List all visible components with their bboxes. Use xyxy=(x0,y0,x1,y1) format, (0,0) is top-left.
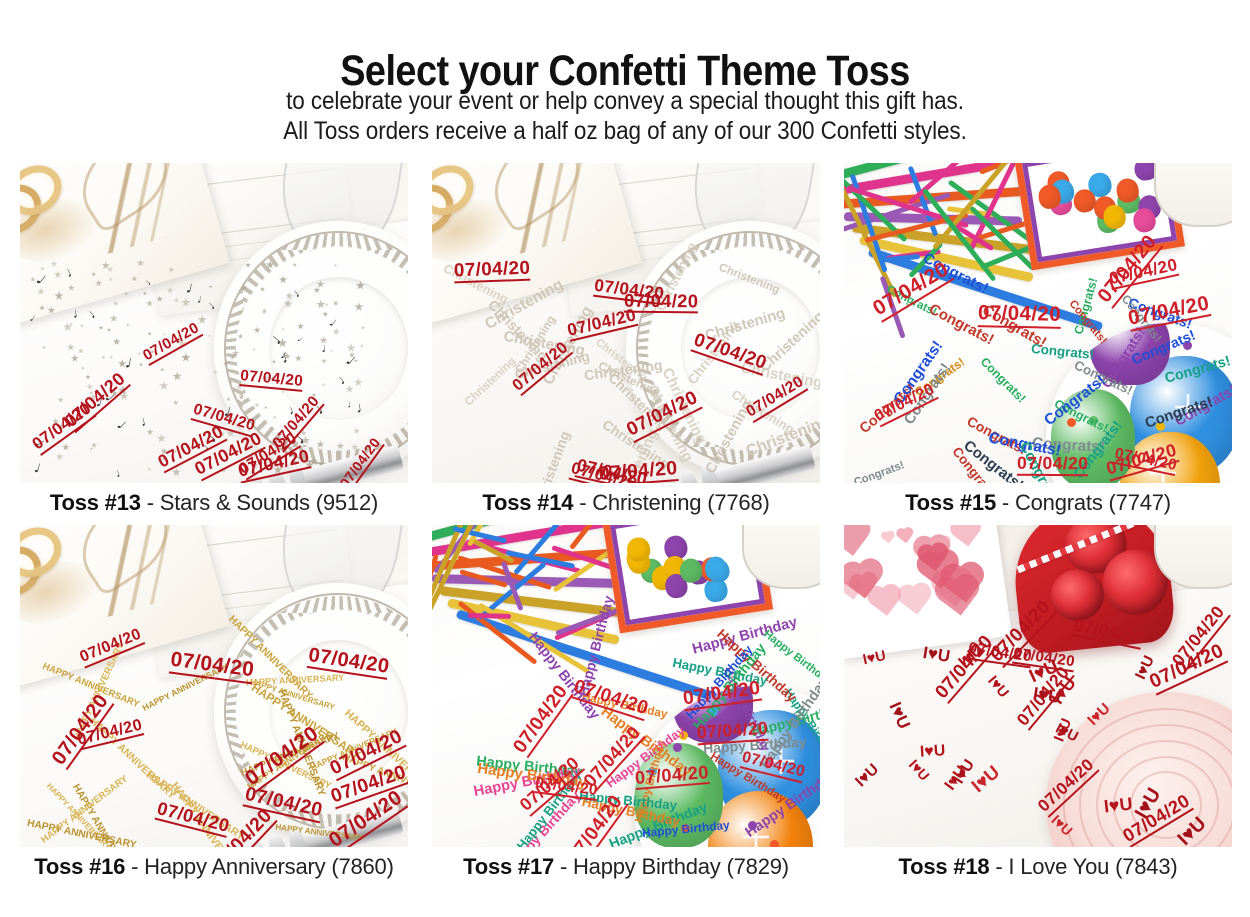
confetti-star xyxy=(213,370,218,375)
product-name-sku: - Congrats (7747) xyxy=(996,490,1171,515)
confetti-date: 07/04/20 xyxy=(870,259,954,322)
confetti-word-anniversary: HAPPY ANNIVERSARY xyxy=(275,824,364,843)
confetti-star xyxy=(290,459,298,467)
confetti-word-christening: Christening xyxy=(704,307,788,345)
confetti-word-birthday: Happy Birthday xyxy=(477,762,588,791)
confetti-star xyxy=(90,447,93,450)
confetti-word-birthday: Happy Birthday xyxy=(743,768,820,840)
confetti-star xyxy=(58,397,64,403)
product-cell-toss-16[interactable]: HAPPY ANNIVERSARYHAPPY ANNIVERSARYHAPPY … xyxy=(20,525,408,889)
confetti-word-anniversary: HAPPY ANNIVERSARY xyxy=(44,782,111,847)
confetti-word-congrats: Congrats! xyxy=(858,381,919,436)
product-photo-happy-anniversary[interactable]: HAPPY ANNIVERSARYHAPPY ANNIVERSARYHAPPY … xyxy=(20,525,408,847)
confetti-date: 07/04/20 xyxy=(237,431,302,481)
confetti-word-birthday: Happy Birthday xyxy=(782,687,820,765)
confetti-word-christening: Christening xyxy=(717,261,781,295)
confetti-music-note: ♩ xyxy=(295,334,310,349)
confetti-star xyxy=(354,302,364,312)
confetti-word-birthday: Happy Birthday xyxy=(506,789,584,847)
confetti-word-christening: Christening xyxy=(597,359,662,398)
confetti-music-note: ♩ xyxy=(267,323,293,349)
confetti-date: 07/04/20 xyxy=(154,799,231,838)
confetti-star xyxy=(160,367,164,371)
confetti-word-birthday: Happy Birthday xyxy=(525,630,601,722)
confetti-word-congrats: Congrats! xyxy=(980,302,1049,350)
confetti-word-congrats: Congrats! xyxy=(1052,397,1110,434)
confetti-star xyxy=(159,381,169,391)
subtitle-line-1: to celebrate your event or help convey a… xyxy=(63,86,1188,116)
product-cell-toss-14[interactable]: ChristeningChristeningChristeningChriste… xyxy=(432,163,820,525)
confetti-word-i-love-you: I♥U xyxy=(1048,813,1074,839)
confetti-star xyxy=(160,448,168,456)
confetti-star xyxy=(325,303,329,307)
confetti-music-note: ♩ xyxy=(311,395,335,419)
confetti-word-anniversary: HAPPY ANNIVERSARY xyxy=(144,770,245,842)
confetti-word-birthday: Happy Birthday xyxy=(607,800,709,847)
confetti-music-note: ♩ xyxy=(286,400,303,418)
confetti-word-i-love-you: I♥U xyxy=(1174,814,1209,847)
confetti-star xyxy=(62,443,70,451)
product-name-sku: - Happy Anniversary (7860) xyxy=(125,854,394,879)
confetti-word-anniversary: HAPPY ANNIVERSARY xyxy=(341,753,408,801)
confetti-word-congrats: Congrats! xyxy=(1126,296,1193,332)
confetti-word-christening: Christening xyxy=(514,350,592,382)
confetti-date: 07/04/20 xyxy=(510,339,574,396)
confetti-star xyxy=(146,429,153,436)
confetti-date: 07/04/20 xyxy=(624,292,699,314)
confetti-music-note: ♩ xyxy=(31,268,60,297)
confetti-star xyxy=(157,296,163,302)
confetti-star xyxy=(351,443,359,451)
confetti-star xyxy=(47,306,55,314)
confetti-star xyxy=(208,334,211,337)
confetti-word-congrats: Congrats! xyxy=(852,460,905,483)
confetti-word-congrats: Congrats! xyxy=(902,361,954,428)
product-cell-toss-13[interactable]: ♩♩♩♩♩♩♩♩♩♩♩♩♩♩♩♩♩♩♩♩♩♩♩♩♩♩♩♩♩♩♩♩♩♩07/04/… xyxy=(20,163,408,525)
confetti-word-congrats: Congrats! xyxy=(1100,325,1149,391)
confetti-word-christening: Christening xyxy=(463,355,518,408)
confetti-word-congrats: Congrats! xyxy=(1067,299,1109,347)
confetti-word-christening: Christening xyxy=(729,388,796,436)
confetti-star xyxy=(69,322,73,326)
confetti-word-congrats: Congrats! xyxy=(1071,419,1125,482)
confetti-word-birthday: Happy Birthday xyxy=(761,629,820,688)
confetti-star xyxy=(147,467,151,471)
confetti-star xyxy=(356,281,366,291)
confetti-star xyxy=(254,402,259,407)
confetti-word-birthday: Happy Birthday xyxy=(750,700,820,739)
confetti-star xyxy=(311,392,316,397)
confetti-date: 07/04/20 xyxy=(326,787,408,847)
confetti-date: 07/04/20 xyxy=(988,598,1057,668)
confetti-music-note: ♩ xyxy=(326,314,347,335)
confetti-music-note: ♩ xyxy=(138,410,156,429)
confetti-star xyxy=(174,297,180,303)
confetti-star xyxy=(107,328,111,332)
confetti-word-congrats: Congrats! xyxy=(913,356,967,399)
product-photo-stars-and-sounds[interactable]: ♩♩♩♩♩♩♩♩♩♩♩♩♩♩♩♩♩♩♩♩♩♩♩♩♩♩♩♩♩♩♩♩♩♩07/04/… xyxy=(20,163,408,483)
product-grid: ♩♩♩♩♩♩♩♩♩♩♩♩♩♩♩♩♩♩♩♩♩♩♩♩♩♩♩♩♩♩♩♩♩♩07/04/… xyxy=(20,163,1232,889)
confetti-theme-toss-page: Select your Confetti Theme Toss to celeb… xyxy=(0,0,1250,917)
confetti-word-christening: Christening xyxy=(485,298,550,364)
confetti-star xyxy=(131,276,137,282)
confetti-date: 07/04/20 xyxy=(1112,446,1177,476)
confetti-word-congrats: Congrats! xyxy=(1042,372,1109,428)
confetti-word-i-love-you: I♥U xyxy=(853,762,882,791)
confetti-music-note: ♩ xyxy=(288,421,317,450)
confetti-date: 07/04/20 xyxy=(1012,646,1076,673)
confetti-star xyxy=(86,383,93,390)
confetti-word-christening: Christening xyxy=(541,304,596,388)
confetti-word-congrats: Congrats! xyxy=(926,301,996,347)
confetti-date: 07/04/20 xyxy=(1104,442,1179,482)
confetti-date: 07/04/20 xyxy=(327,727,407,782)
confetti-word-christening: Christening xyxy=(593,337,649,384)
confetti-word-anniversary: HAPPY ANNIVERSARY xyxy=(70,783,134,847)
confetti-word-i-love-you: I♥U xyxy=(920,743,946,760)
confetti-star xyxy=(50,260,57,267)
confetti-star xyxy=(197,315,207,325)
confetti-word-christening: Christening xyxy=(659,366,709,447)
confetti-layer-happy-anniversary: HAPPY ANNIVERSARYHAPPY ANNIVERSARYHAPPY … xyxy=(20,525,408,847)
confetti-date: 07/04/20 xyxy=(580,723,646,792)
confetti-word-i-love-you: I♥U xyxy=(886,699,913,731)
confetti-date: 07/04/20 xyxy=(454,259,531,283)
confetti-date: 07/04/20 xyxy=(242,724,324,793)
confetti-star xyxy=(101,355,105,359)
confetti-star xyxy=(334,264,337,267)
confetti-word-birthday: Happy Birthday xyxy=(473,765,582,800)
confetti-word-anniversary: HAPPY ANNIVERSARY xyxy=(246,674,345,688)
confetti-star xyxy=(173,400,179,406)
confetti-star xyxy=(270,376,275,381)
confetti-star xyxy=(181,298,191,308)
product-photo-happy-birthday[interactable]: Happy BirthdayHappy BirthdayHappy Birthd… xyxy=(432,525,820,847)
product-cell-toss-18[interactable]: I♥UI♥UI♥UI♥UI♥UI♥UI♥UI♥UI♥UI♥UI♥UI♥UI♥UI… xyxy=(844,525,1232,889)
confetti-star xyxy=(336,442,344,450)
confetti-word-congrats: Congrats! xyxy=(1072,276,1099,335)
product-photo-congrats[interactable]: Congrats!Congrats!Congrats!Congrats!Cong… xyxy=(844,163,1232,483)
confetti-word-anniversary: HAPPY ANNIVERSARY xyxy=(249,682,362,761)
confetti-word-i-love-you: I♥U xyxy=(1053,722,1080,746)
confetti-star xyxy=(39,305,45,311)
confetti-star xyxy=(136,259,144,267)
confetti-date: 07/04/20 xyxy=(566,792,630,847)
confetti-star xyxy=(161,457,165,461)
confetti-word-congrats: Congrats! xyxy=(1031,342,1095,362)
confetti-word-anniversary: HAPPY ANNIVERSARY xyxy=(87,716,177,801)
confetti-star xyxy=(254,327,261,334)
confetti-word-birthday: Happy Birthday xyxy=(635,739,669,824)
confetti-date: 07/04/20 xyxy=(967,641,1033,668)
confetti-star xyxy=(126,323,130,327)
confetti-star xyxy=(113,301,119,307)
confetti-word-congrats: Congrats! xyxy=(921,250,991,296)
confetti-star xyxy=(318,461,324,467)
confetti-star xyxy=(238,394,245,401)
confetti-star xyxy=(236,383,243,390)
confetti-star xyxy=(262,375,269,382)
confetti-star xyxy=(361,325,366,330)
confetti-word-christening: Christening xyxy=(739,361,820,391)
confetti-word-i-love-you: I♥U xyxy=(942,763,970,793)
confetti-word-congrats: Congrats! xyxy=(950,445,1000,483)
confetti-date: 07/04/20 xyxy=(517,754,585,817)
product-id: Toss #14 xyxy=(482,490,573,515)
confetti-star xyxy=(110,314,118,322)
confetti-word-i-love-you: I♥U xyxy=(955,641,986,671)
confetti-star xyxy=(107,266,113,272)
confetti-word-congrats: Congrats! xyxy=(965,414,1029,457)
confetti-word-i-love-you: I♥U xyxy=(1133,785,1166,822)
confetti-star xyxy=(181,353,191,363)
confetti-date: 07/04/20 xyxy=(740,750,807,784)
confetti-star xyxy=(346,385,354,393)
confetti-word-congrats: Congrats! xyxy=(1144,395,1215,432)
confetti-date: 07/04/20 xyxy=(978,303,1061,328)
confetti-star xyxy=(146,299,154,307)
confetti-date: 07/04/20 xyxy=(208,806,278,847)
confetti-star xyxy=(281,390,285,394)
confetti-word-i-love-you: I♥U xyxy=(1085,700,1113,728)
confetti-word-christening: Christening xyxy=(685,319,742,387)
confetti-layer-congrats: Congrats!Congrats!Congrats!Congrats!Cong… xyxy=(844,163,1232,483)
confetti-word-christening: Christening xyxy=(703,398,755,476)
confetti-star xyxy=(71,354,79,362)
confetti-word-christening: Christening xyxy=(503,330,587,359)
confetti-star xyxy=(91,442,97,448)
confetti-star xyxy=(272,359,276,363)
confetti-date: 07/04/20 xyxy=(624,389,702,443)
product-id: Toss #16 xyxy=(34,854,125,879)
confetti-star xyxy=(89,391,93,395)
confetti-word-birthday: Happy Birthday xyxy=(691,642,769,734)
confetti-word-christening: Christening xyxy=(532,429,572,483)
confetti-date: 07/04/20 xyxy=(1127,293,1212,332)
confetti-star xyxy=(322,311,328,317)
confetti-word-birthday: Happy Birthday xyxy=(691,615,799,657)
confetti-date: 07/04/20 xyxy=(328,762,408,809)
confetti-star xyxy=(68,284,75,291)
confetti-star xyxy=(252,348,256,352)
confetti-word-christening: Christening xyxy=(758,310,820,376)
product-photo-christening[interactable]: ChristeningChristeningChristeningChriste… xyxy=(432,163,820,483)
confetti-star xyxy=(85,374,91,380)
product-caption: Toss #16 - Happy Anniversary (7860) xyxy=(20,847,408,889)
confetti-word-birthday: Happy Birthday xyxy=(714,627,798,705)
subtitle-line-2: All Toss orders receive a half oz bag of… xyxy=(63,116,1188,146)
confetti-word-congrats: Congrats! xyxy=(891,338,946,407)
confetti-word-birthday: Happy Birthday xyxy=(722,665,772,753)
confetti-word-anniversary: HAPPY ANNIVERSARY xyxy=(41,661,141,709)
confetti-star xyxy=(316,300,326,310)
page-subtitle: to celebrate your event or help convey a… xyxy=(0,86,1250,146)
confetti-star xyxy=(272,415,277,420)
product-caption: Toss #15 - Congrats (7747) xyxy=(844,483,1232,525)
confetti-date: 07/04/20 xyxy=(337,435,385,483)
confetti-star xyxy=(157,433,167,443)
confetti-star xyxy=(78,348,84,354)
confetti-star xyxy=(143,291,148,296)
confetti-star xyxy=(230,355,235,360)
confetti-star xyxy=(52,418,59,425)
confetti-word-congrats: Congrats! xyxy=(1129,328,1197,367)
confetti-date: 07/04/20 xyxy=(77,627,144,669)
product-caption: Toss #14 - Christening (7768) xyxy=(432,483,820,525)
confetti-star xyxy=(354,378,363,387)
confetti-word-birthday: Happy Birthday xyxy=(476,755,583,781)
confetti-word-congrats: Congrats! xyxy=(1072,358,1134,397)
confetti-word-christening: Christening xyxy=(744,414,820,460)
product-id: Toss #15 xyxy=(905,490,996,515)
confetti-star xyxy=(67,343,75,351)
confetti-word-anniversary: HAPPY ANNIVERSARY xyxy=(342,708,408,797)
confetti-star xyxy=(163,333,166,336)
confetti-star xyxy=(147,331,152,336)
confetti-word-i-love-you: I♥U xyxy=(985,673,1011,700)
confetti-date: 07/04/20 xyxy=(1013,663,1074,731)
product-cell-toss-17[interactable]: Happy BirthdayHappy BirthdayHappy Birthd… xyxy=(432,525,820,889)
confetti-date: 07/04/20 xyxy=(1017,455,1088,476)
confetti-word-christening: Christening xyxy=(654,240,700,313)
confetti-star xyxy=(232,350,240,358)
product-caption: Toss #18 - I Love You (7843) xyxy=(844,847,1232,889)
confetti-word-congrats: Congrats! xyxy=(978,355,1028,405)
confetti-star xyxy=(266,260,275,269)
confetti-star xyxy=(360,344,364,348)
confetti-star xyxy=(150,350,154,354)
product-id: Toss #13 xyxy=(50,490,141,515)
confetti-star xyxy=(321,383,325,387)
confetti-date: 07/04/20 xyxy=(534,775,599,801)
confetti-music-note: ♩ xyxy=(320,339,334,355)
confetti-word-birthday: Happy Birthday xyxy=(758,675,820,771)
confetti-star xyxy=(316,440,324,448)
confetti-word-birthday: Happy Birthday xyxy=(576,594,616,698)
product-name-sku: - I Love You (7843) xyxy=(989,854,1177,879)
confetti-date: 07/04/20 xyxy=(1120,791,1195,847)
confetti-star xyxy=(81,367,85,371)
confetti-word-congrats: Congrats! xyxy=(988,430,1063,459)
confetti-date: 07/04/20 xyxy=(169,650,256,685)
confetti-date: 07/04/20 xyxy=(682,679,762,712)
confetti-word-anniversary: HAPPY ANNIVERSARY xyxy=(226,614,314,701)
confetti-date: 07/04/20 xyxy=(140,320,202,366)
product-cell-toss-15[interactable]: Congrats!Congrats!Congrats!Congrats!Cong… xyxy=(844,163,1232,525)
product-name-sku: - Stars & Sounds (9512) xyxy=(141,490,378,515)
confetti-star xyxy=(229,381,232,384)
confetti-word-anniversary: HAPPY ANNIVERSARY xyxy=(72,641,126,742)
confetti-word-i-love-you: I♥U xyxy=(968,763,1003,796)
confetti-star xyxy=(58,422,66,430)
confetti-word-christening: Christening xyxy=(599,417,671,471)
confetti-date: 07/04/20 xyxy=(1169,603,1230,672)
confetti-date: 07/04/20 xyxy=(598,459,678,483)
confetti-date: 07/04/20 xyxy=(566,306,639,342)
confetti-date: 07/04/20 xyxy=(239,368,304,392)
confetti-word-christening: Christening xyxy=(513,314,557,376)
confetti-word-christening: Christening xyxy=(583,359,663,384)
confetti-word-i-love-you: I♥U xyxy=(907,757,933,783)
confetti-music-note: ♩ xyxy=(30,434,56,460)
confetti-date: 07/04/20 xyxy=(744,373,808,422)
confetti-word-christening: Christening xyxy=(441,262,510,306)
confetti-star xyxy=(54,291,64,301)
confetti-date: 07/04/20 xyxy=(593,277,665,306)
confetti-word-birthday: Happy Birthday xyxy=(703,734,807,755)
confetti-word-congrats: Congrats! xyxy=(1163,354,1232,386)
confetti-date: 07/04/20 xyxy=(511,681,575,758)
confetti-star xyxy=(209,285,213,289)
confetti-star xyxy=(91,271,96,276)
confetti-star xyxy=(264,406,267,409)
confetti-word-birthday: Happy Birthday xyxy=(514,769,584,847)
product-caption: Toss #13 - Stars & Sounds (9512) xyxy=(20,483,408,525)
confetti-music-note: ♩ xyxy=(28,310,45,328)
confetti-star xyxy=(95,279,103,287)
confetti-word-birthday: Happy Birthday xyxy=(581,691,669,721)
confetti-star xyxy=(260,287,265,292)
confetti-star xyxy=(316,280,324,288)
confetti-music-note: ♩ xyxy=(123,352,145,376)
confetti-music-note: ♩ xyxy=(62,259,82,280)
confetti-star xyxy=(261,308,267,314)
confetti-word-birthday: Happy Birthday xyxy=(641,820,730,840)
confetti-word-birthday: Happy Birthday xyxy=(684,644,755,722)
confetti-star xyxy=(238,334,244,340)
confetti-star xyxy=(108,277,113,282)
confetti-word-birthday: Happy Birthday xyxy=(578,789,677,812)
confetti-star xyxy=(226,428,236,438)
product-photo-i-love-you[interactable]: I♥UI♥UI♥UI♥UI♥UI♥UI♥UI♥UI♥UI♥UI♥UI♥UI♥UI… xyxy=(844,525,1232,847)
product-name-sku: - Christening (7768) xyxy=(573,490,769,515)
product-id: Toss #18 xyxy=(899,854,990,879)
confetti-star xyxy=(273,465,283,475)
confetti-date: 07/04/20 xyxy=(1095,232,1163,309)
confetti-star xyxy=(56,453,64,461)
confetti-date: 07/04/20 xyxy=(690,330,768,375)
confetti-star xyxy=(279,275,288,284)
product-name-sku: - Happy Birthday (7829) xyxy=(554,854,789,879)
confetti-music-note: ♩ xyxy=(222,400,245,425)
confetti-date: 07/04/20 xyxy=(1107,256,1179,290)
confetti-date: 07/04/20 xyxy=(76,716,145,750)
confetti-star xyxy=(321,358,327,364)
confetti-music-note: ♩ xyxy=(113,463,129,480)
confetti-music-note: ♩ xyxy=(289,281,309,301)
confetti-layer-i-love-you: I♥UI♥UI♥UI♥UI♥UI♥UI♥UI♥UI♥UI♥UI♥UI♥UI♥UI… xyxy=(844,525,1232,847)
confetti-word-i-love-you: I♥U xyxy=(862,648,887,667)
confetti-word-birthday: Happy Birthday xyxy=(581,795,681,829)
confetti-word-anniversary: HAPPY ANNIVERSARY xyxy=(240,732,341,779)
confetti-date: 07/04/20 xyxy=(1035,756,1099,818)
confetti-star xyxy=(98,325,103,330)
confetti-word-congrats: Congrats! xyxy=(884,284,938,319)
confetti-word-christening: Christening xyxy=(482,277,565,333)
confetti-star xyxy=(313,287,320,294)
confetti-music-note: ♩ xyxy=(143,274,158,289)
confetti-music-note: ♩ xyxy=(71,303,88,321)
confetti-star xyxy=(223,360,229,366)
confetti-word-i-love-you: I♥U xyxy=(1027,657,1061,686)
confetti-star xyxy=(172,372,181,381)
product-id: Toss #17 xyxy=(463,854,554,879)
confetti-word-birthday: Happy Birthday xyxy=(671,656,768,687)
product-caption: Toss #17 - Happy Birthday (7829) xyxy=(432,847,820,889)
confetti-word-anniversary: HAPPY ANNIVERSARY xyxy=(275,689,326,798)
confetti-star xyxy=(245,262,251,268)
confetti-star xyxy=(124,291,129,296)
